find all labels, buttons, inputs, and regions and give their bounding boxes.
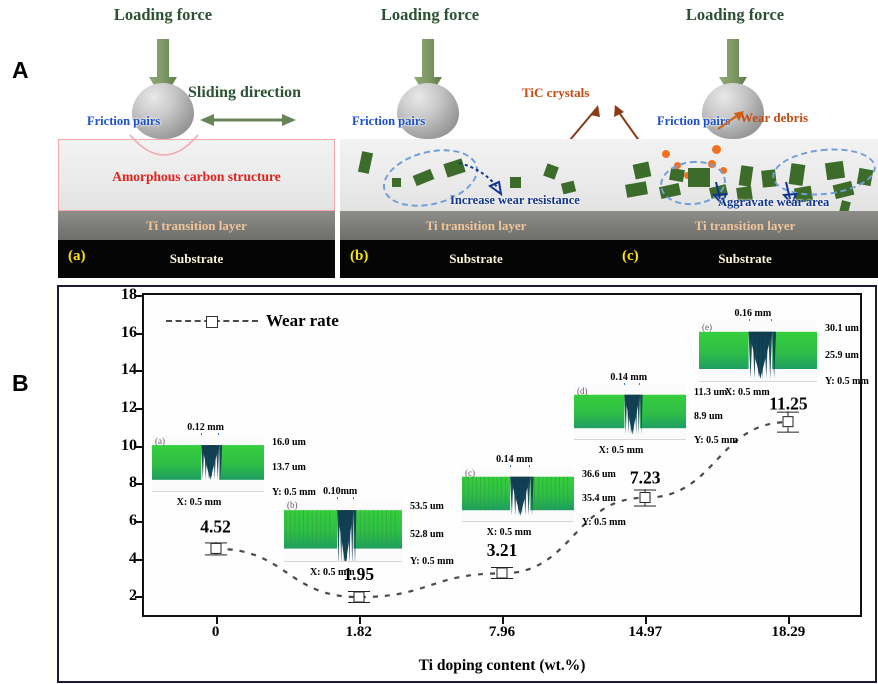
increase-wear-resistance-label: Increase wear resistance [450,193,580,208]
sliding-direction-arrow [200,112,296,128]
wear-rate-chart-panel: Wear rate × 10−6(m3.N−1.m−1) Wear rate 2… [57,285,877,683]
inset-depth-2: 52.8 um [410,529,444,540]
point-marker[interactable] [210,543,221,554]
point-value-label: 7.23 [630,467,661,488]
substrate-layer-c: Substrate (c) [612,240,878,278]
inset-depth-1: 30.1 um [825,323,859,334]
substrate-label-a: Substrate [58,251,335,267]
inset-y-scale: Y: 0.5 mm [272,487,316,498]
inset-width-label: 0.14 mm [496,454,533,465]
tic-crystal [633,162,652,180]
inset-depth-2: 35.4 um [582,493,616,504]
doped-film-layer-b: Increase wear resistance [340,139,612,211]
x-tick-label: 14.97 [628,624,662,641]
panel-b-letter: B [12,370,29,397]
data-point[interactable]: 7.23 [632,489,658,506]
inset-depth-1: 16.0 um [272,437,306,448]
x-tick-label: 1.82 [346,624,372,641]
wear-profile-image [152,435,264,492]
ti-transition-label-b: Ti transition layer [340,218,612,234]
plot-area: Wear rate 24681012141618 01.827.9614.971… [142,293,862,617]
error-cap-bottom [777,431,799,432]
tic-crystal [358,151,373,174]
point-marker[interactable] [783,417,794,428]
inset-y-scale: Y: 0.5 mm [582,517,626,528]
schematic-tag-c: (c) [622,248,639,265]
inset-x-scale: X: 0.5 mm [725,387,770,398]
point-marker[interactable] [353,592,364,603]
substrate-layer-a: Substrate (a) [58,240,335,278]
x-tick-label: 18.29 [772,624,806,641]
inset-depth-1: 53.5 um [410,501,444,512]
x-tick-mark [359,615,361,624]
wear-debris-arrow [716,110,746,132]
wear-profile-image [284,499,402,562]
inset-tag: (a) [155,436,165,446]
schematic-tag-b: (b) [350,248,368,265]
substrate-label-c: Substrate [612,251,878,267]
schematic-b: Loading force Friction pairs TiC crystal… [340,0,612,284]
wear-profile-image [574,385,686,440]
inset-width-label: 0.12 mm [187,422,224,433]
friction-ball-b [397,83,459,139]
y-tick-mark [135,559,144,561]
x-tick-mark [645,615,647,624]
wear-profile-image [699,321,817,382]
y-tick-mark [135,483,144,485]
amorphous-carbon-label: Amorphous carbon structure [59,169,334,185]
inset-x-scale: X: 0.5 mm [487,527,532,538]
y-tick-mark [135,295,144,297]
friction-pairs-label-b: Friction pairs [352,114,425,129]
substrate-label-b: Substrate [340,251,612,267]
wear-profile-image [462,467,574,522]
inset-x-scale: X: 0.5 mm [177,497,222,508]
x-tick-mark [502,615,504,624]
x-tick-label: 7.96 [489,624,515,641]
inset-x-scale: X: 0.5 mm [310,567,355,578]
friction-pairs-label-a: Friction pairs [87,114,160,129]
wear-debris-label: Wear debris [740,110,808,126]
inset-depth-2: 13.7 um [272,462,306,473]
tic-crystal [625,181,648,197]
tic-crystal [543,163,559,179]
loading-force-label-b: Loading force [345,5,515,25]
aggravate-wear-area-label: Aggravate wear area [718,195,829,210]
schematic-tag-a: (a) [68,248,86,265]
tic-crystals-label: TiC crystals [522,85,589,101]
wear-debris-particle [662,150,670,158]
sliding-direction-label: Sliding direction [188,84,301,102]
data-point[interactable]: 11.25 [775,412,801,433]
y-tick-mark [135,446,144,448]
error-cap-bottom [205,554,227,555]
ti-transition-layer-a: Ti transition layer [58,211,335,240]
inset-width-label: 0.16 mm [735,308,772,319]
y-tick-mark [135,596,144,598]
inset-depth-1: 36.6 um [582,469,616,480]
substrate-layer-b: Substrate (b) [340,240,612,278]
schematic-a: Loading force Friction pairs Sliding dir… [58,0,335,284]
y-tick-mark [135,333,144,335]
ti-transition-label-c: Ti transition layer [612,218,878,234]
tic-crystal [739,165,754,186]
x-tick-label: 0 [212,624,220,641]
inset-tag: (b) [287,500,298,510]
inset-width-label: 0.10mm [323,486,357,497]
loading-force-label-c: Loading force [650,5,820,25]
inset-tag: (c) [465,468,475,478]
panel-a-letter: A [12,57,29,84]
ti-transition-layer-c: Ti transition layer [612,211,878,240]
y-tick-mark [135,370,144,372]
point-value-label: 11.25 [769,393,807,414]
y-tick-mark [135,521,144,523]
doped-film-layer-c: Aggravate wear area [612,139,878,211]
data-point[interactable]: 3.21 [489,567,515,579]
ti-transition-label-a: Ti transition layer [58,218,335,234]
inset-depth-1: 11.3 um [694,387,727,398]
inset-y-scale: Y: 0.5 mm [694,435,738,446]
inset-width-label: 0.14 mm [610,372,647,383]
point-marker[interactable] [497,568,508,579]
wear-scar-outline-a [128,133,200,165]
wear-resistance-arrow [457,161,507,197]
y-tick-mark [135,408,144,410]
inset-y-scale: Y: 0.5 mm [410,556,454,567]
schematic-c: Loading force Friction pairs Wear debris [612,0,878,284]
ti-transition-layer-b: Ti transition layer [340,211,612,240]
point-value-label: 4.52 [200,516,231,537]
inset-y-scale: Y: 0.5 mm [825,376,869,387]
data-point[interactable]: 4.52 [203,542,229,555]
error-cap-bottom [634,505,656,506]
schematic-panel: A Loading force Friction pairs Sliding d… [0,0,878,284]
wear-debris-particle [712,145,721,154]
x-tick-mark [216,615,218,624]
friction-ball-a [132,83,194,139]
inset-x-scale: X: 0.5 mm [599,445,644,456]
inset-depth-2: 8.9 um [694,411,723,422]
data-point[interactable]: 1.95 [346,591,372,603]
loading-force-label-a: Loading force [78,5,248,25]
x-tick-mark [788,615,790,624]
point-value-label: 3.21 [487,540,518,561]
error-cap-top [634,489,656,490]
x-axis-label: Ti doping content (wt.%) [142,657,862,675]
point-marker[interactable] [640,492,651,503]
tic-crystal [510,177,521,188]
inset-depth-2: 25.9 um [825,350,859,361]
inset-tag: (e) [702,322,712,332]
inset-tag: (d) [577,386,588,396]
